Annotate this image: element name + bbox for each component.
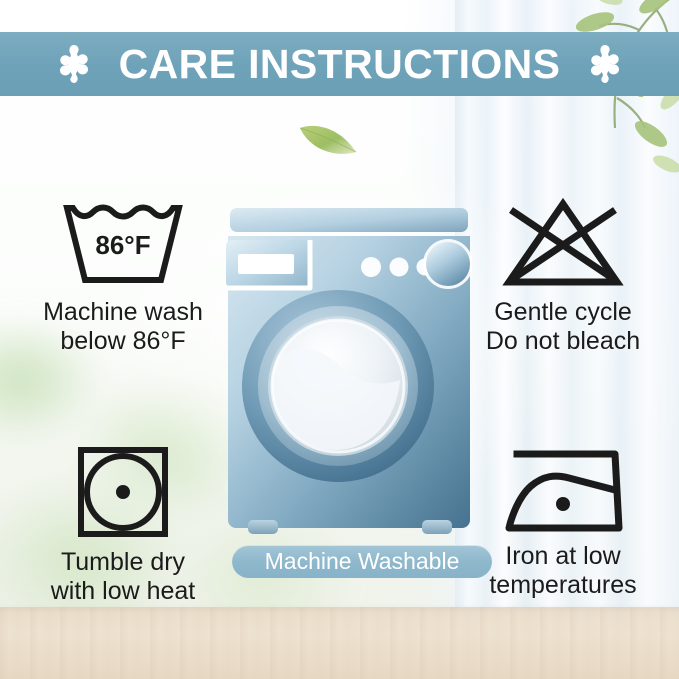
washer-dial [426,242,470,286]
care-item-tumble-dry: Tumble dry with low heat [14,444,232,606]
washer-foot-left [248,520,278,534]
care-item-gentle-no-bleach: Gentle cycle Do not bleach [452,196,674,356]
fleur-de-lis-right-icon [582,42,628,86]
care-instructions-graphic: CARE INSTRUCTIONS 86°F Machine wash belo… [0,0,679,679]
page-title: CARE INSTRUCTIONS [119,44,561,85]
care-item-iron-low: Iron at low temperatures [452,444,674,600]
tumble-dry-low-icon [14,444,232,542]
wash-temperature-value: 86°F [95,230,150,260]
washer-button-1 [361,257,381,277]
wooden-table-surface [0,607,679,679]
triangle-crossed-no-bleach-icon [452,196,674,292]
care-item-machine-wash: 86°F Machine wash below 86°F [14,196,232,356]
header-banner: CARE INSTRUCTIONS [0,32,679,96]
iron-low-temp-icon [452,444,674,536]
floating-leaf-icon [296,118,362,160]
wash-tub-icon: 86°F [14,196,232,292]
care-item-caption: Gentle cycle Do not bleach [452,298,674,356]
washing-machine-illustration [226,206,472,538]
care-item-caption: Machine wash below 86°F [14,298,232,356]
washer-top-lid [230,208,468,232]
fleur-de-lis-left-icon [51,42,97,86]
washer-drawer-handle [238,254,294,274]
machine-washable-label: Machine Washable [265,550,460,573]
washer-button-2 [390,258,409,277]
machine-washable-badge: Machine Washable [232,545,492,578]
washer-foot-right [422,520,452,534]
care-item-caption: Tumble dry with low heat [14,548,232,606]
